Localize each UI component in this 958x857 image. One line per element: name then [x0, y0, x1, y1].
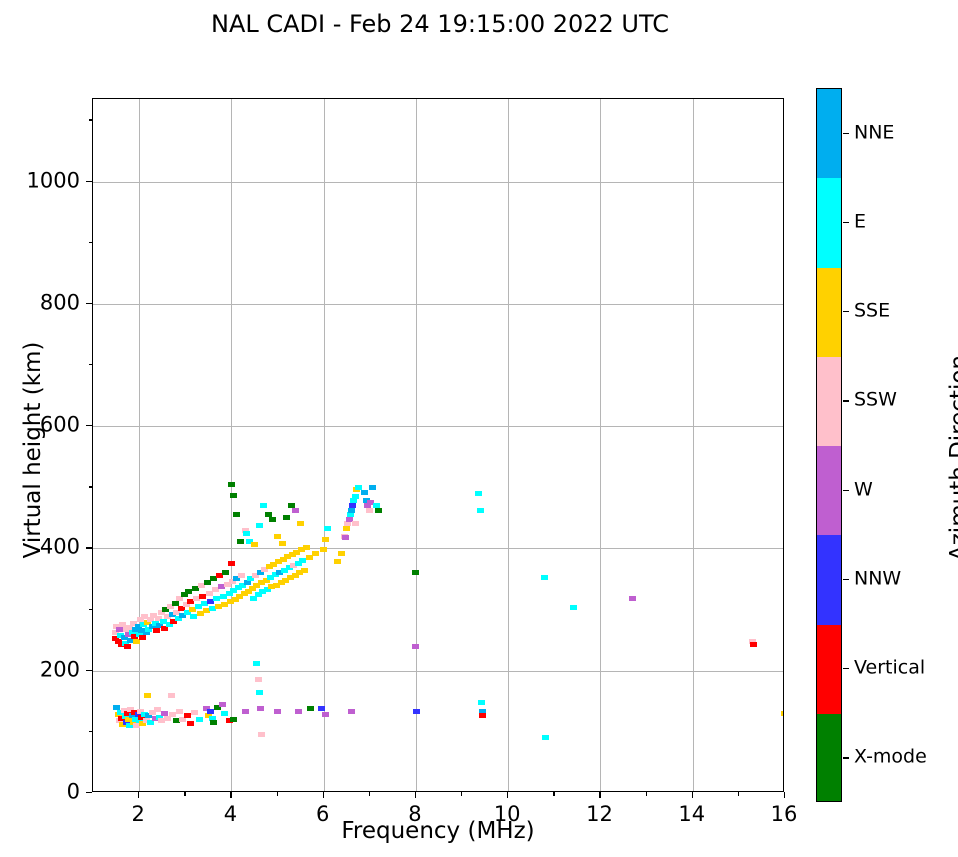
- x-tick: [138, 792, 139, 798]
- x-tick: [599, 792, 600, 798]
- echo-mark: [257, 706, 264, 711]
- y-tick-minor: [89, 609, 93, 610]
- colorbar-segment-nnw[interactable]: [817, 535, 841, 624]
- x-tick-minor: [738, 792, 739, 796]
- echo-mark: [750, 642, 757, 647]
- echo-mark: [269, 517, 276, 522]
- echo-mark: [283, 515, 290, 520]
- echo-mark: [303, 545, 310, 550]
- y-tick-minor: [89, 119, 93, 120]
- colorbar-tick: [843, 311, 849, 312]
- echo-mark: [153, 628, 160, 633]
- page-title: NAL CADI - Feb 24 19:15:00 2022 UTC: [0, 10, 880, 38]
- echo-mark: [139, 635, 146, 640]
- colorbar-label-ssw: SSW: [854, 391, 897, 410]
- echo-mark: [324, 526, 331, 531]
- echo-mark: [475, 491, 482, 496]
- echo-mark: [292, 508, 299, 513]
- x-tick-minor: [646, 792, 647, 796]
- y-tick-minor: [89, 731, 93, 732]
- x-tick-minor: [553, 792, 554, 796]
- colorbar-tick: [843, 400, 849, 401]
- plot-area: [92, 98, 784, 792]
- echo-mark: [369, 485, 376, 490]
- echo-mark: [250, 596, 257, 601]
- colorbar-segment-e[interactable]: [817, 178, 841, 267]
- gridline-vertical: [600, 99, 601, 791]
- echo-mark: [342, 535, 349, 540]
- echo-mark: [477, 508, 484, 513]
- echo-mark: [260, 503, 267, 508]
- gridline-vertical: [139, 99, 140, 791]
- colorbar-segment-nne[interactable]: [817, 89, 841, 178]
- y-tick-minor: [89, 486, 93, 487]
- echo-mark: [237, 539, 244, 544]
- echo-mark: [222, 570, 229, 575]
- gridline-vertical: [693, 99, 694, 791]
- echo-mark: [238, 573, 245, 578]
- gridline-horizontal: [93, 182, 783, 183]
- echo-mark: [413, 709, 420, 714]
- echo-mark: [161, 626, 168, 631]
- x-tick-minor: [461, 792, 462, 796]
- gridline-horizontal: [93, 304, 783, 305]
- colorbar-label-w: W: [854, 480, 873, 499]
- echo-mark: [781, 711, 784, 716]
- echo-mark: [274, 709, 281, 714]
- gridline-vertical: [416, 99, 417, 791]
- echo-mark: [295, 709, 302, 714]
- colorbar-label-x-mode: X-mode: [854, 748, 927, 767]
- x-tick: [692, 792, 693, 798]
- x-tick: [415, 792, 416, 798]
- echo-mark: [256, 690, 263, 695]
- echo-mark: [133, 639, 140, 644]
- y-tick: [86, 792, 92, 793]
- colorbar-title: Azimuth Direction: [946, 288, 958, 628]
- colorbar-segment-ssw[interactable]: [817, 357, 841, 446]
- echo-mark: [349, 503, 356, 508]
- y-tick-minor: [89, 242, 93, 243]
- gridline-vertical: [231, 99, 232, 791]
- echo-mark: [479, 713, 486, 718]
- gridline-horizontal: [93, 671, 783, 672]
- x-tick-minor: [369, 792, 370, 796]
- colorbar-segment-sse[interactable]: [817, 268, 841, 357]
- echo-mark: [322, 712, 329, 717]
- echo-mark: [352, 494, 359, 499]
- echo-mark: [124, 644, 131, 649]
- echo-mark: [350, 498, 357, 503]
- colorbar-tick: [843, 668, 849, 669]
- echo-mark: [301, 568, 308, 573]
- echo-mark: [196, 717, 203, 722]
- echo-mark: [344, 521, 351, 526]
- x-tick: [230, 792, 231, 798]
- echo-mark: [176, 709, 183, 714]
- echo-mark: [230, 493, 237, 498]
- gridline-vertical: [508, 99, 509, 791]
- echo-mark: [312, 551, 319, 556]
- echo-mark: [541, 575, 548, 580]
- y-tick-minor: [89, 364, 93, 365]
- echo-mark: [306, 555, 313, 560]
- echo-mark: [169, 712, 176, 717]
- echo-mark: [366, 508, 373, 513]
- colorbar-label-nne: NNE: [854, 123, 894, 142]
- echo-mark: [144, 693, 151, 698]
- echo-mark: [375, 508, 382, 513]
- echo-mark: [348, 709, 355, 714]
- y-tick: [86, 425, 92, 426]
- x-tick: [507, 792, 508, 798]
- echo-mark: [207, 709, 214, 714]
- colorbar-tick: [843, 757, 849, 758]
- echo-mark: [176, 596, 183, 601]
- x-tick-minor: [277, 792, 278, 796]
- echo-mark: [210, 720, 217, 725]
- y-tick: [86, 303, 92, 304]
- echo-mark: [191, 710, 198, 715]
- echo-mark: [274, 534, 281, 539]
- echo-mark: [343, 526, 350, 531]
- echo-mark: [361, 490, 368, 495]
- echo-mark: [307, 706, 314, 711]
- y-tick: [86, 181, 92, 182]
- colorbar-tick: [843, 579, 849, 580]
- colorbar-segment-vertical[interactable]: [817, 625, 841, 714]
- y-tick: [86, 670, 92, 671]
- echo-mark: [233, 512, 240, 517]
- echo-mark: [253, 661, 260, 666]
- x-axis-label: Frequency (MHz): [92, 818, 784, 844]
- echo-mark: [258, 732, 265, 737]
- echo-mark: [318, 706, 325, 711]
- echo-mark: [352, 521, 359, 526]
- echo-mark: [242, 709, 249, 714]
- colorbar-tick: [843, 490, 849, 491]
- colorbar-label-e: E: [854, 212, 866, 231]
- colorbar-label-vertical: Vertical: [854, 659, 925, 678]
- echo-mark: [348, 508, 355, 513]
- y-tick-label: 200: [16, 659, 80, 680]
- colorbar-segment-w[interactable]: [817, 446, 841, 535]
- colorbar-label-sse: SSE: [854, 302, 890, 321]
- echo-mark: [219, 702, 226, 707]
- gridline-horizontal: [93, 548, 783, 549]
- echo-mark: [412, 570, 419, 575]
- x-tick-minor: [184, 792, 185, 796]
- x-tick: [323, 792, 324, 798]
- echo-mark: [228, 482, 235, 487]
- echo-mark: [334, 559, 341, 564]
- colorbar-tick: [843, 222, 849, 223]
- echo-mark: [230, 717, 237, 722]
- echo-mark: [478, 700, 485, 705]
- echo-mark: [542, 735, 549, 740]
- colorbar[interactable]: [816, 88, 842, 802]
- echo-mark: [279, 541, 286, 546]
- echo-mark: [347, 512, 354, 517]
- echo-mark: [297, 521, 304, 526]
- colorbar-tick: [843, 133, 849, 134]
- echo-mark: [570, 605, 577, 610]
- y-tick: [86, 547, 92, 548]
- colorbar-label-nnw: NNW: [854, 569, 901, 588]
- y-tick-label: 0: [16, 782, 80, 803]
- gridline-horizontal: [93, 426, 783, 427]
- echo-mark: [255, 677, 262, 682]
- x-tick: [784, 792, 785, 798]
- echo-mark: [256, 523, 263, 528]
- echo-mark: [338, 551, 345, 556]
- echo-mark: [221, 711, 228, 716]
- echo-mark: [168, 693, 175, 698]
- y-tick-label: 1000: [16, 170, 80, 191]
- echo-mark: [251, 542, 258, 547]
- ionogram-figure: NAL CADI - Feb 24 19:15:00 2022 UTC 2468…: [0, 0, 958, 857]
- gridline-vertical: [324, 99, 325, 791]
- echo-mark: [320, 547, 327, 552]
- echo-mark: [187, 721, 194, 726]
- echo-mark: [228, 561, 235, 566]
- y-axis-label: Virtual height (km): [20, 280, 46, 620]
- echo-mark: [243, 531, 250, 536]
- colorbar-segment-x-mode[interactable]: [817, 714, 841, 802]
- echo-mark: [629, 596, 636, 601]
- echo-mark: [322, 537, 329, 542]
- echo-mark: [412, 644, 419, 649]
